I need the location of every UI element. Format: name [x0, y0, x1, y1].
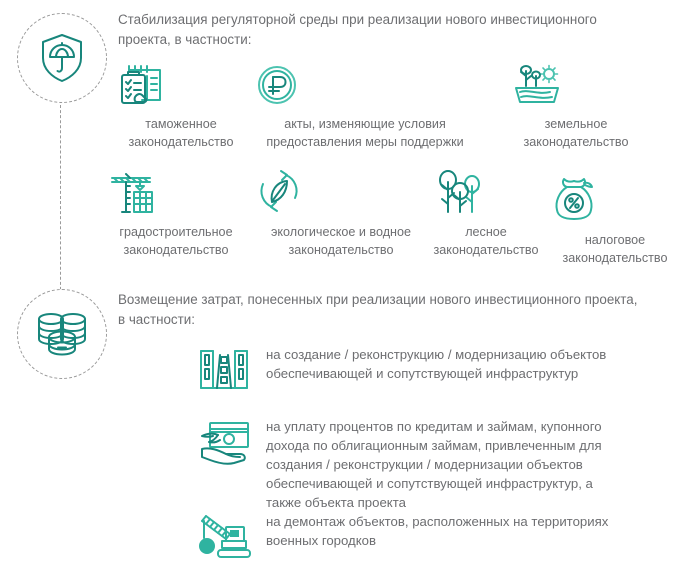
- section-badge-cost-recovery: [17, 289, 107, 379]
- grid-item-urban-planning[interactable]: градостроительное законодательство: [106, 168, 246, 259]
- bullet-text: на демонтаж объектов, расположенных на т…: [266, 510, 608, 550]
- grid-item-tax[interactable]: налоговое законодательство: [551, 176, 679, 267]
- grid-item-ecology-water[interactable]: экологическое и водное законодательство: [256, 168, 426, 259]
- bullet-text: на уплату процентов по кредитам и займам…: [266, 415, 602, 512]
- bullet-text: на создание / реконструкцию / модернизац…: [266, 343, 606, 383]
- bullet-row-loan-interest[interactable]: на уплату процентов по кредитам и займам…: [196, 415, 666, 512]
- wrecking-ball-excavator-icon: [196, 510, 252, 560]
- section-heading-cost-recovery: Возмещение затрат, понесенных при реализ…: [118, 290, 648, 330]
- ruble-coin-icon: [255, 64, 475, 106]
- grid-item-label: лесное законодательство: [434, 225, 539, 257]
- section-connector-line: [60, 100, 61, 300]
- eco-leaf-recycle-icon: [256, 168, 426, 214]
- coin-stacks-icon: [34, 309, 90, 359]
- grid-item-label: экологическое и водное законодательство: [271, 225, 411, 257]
- forest-trees-icon: [432, 168, 540, 214]
- grid-item-label: акты, изменяющие условия предоставления …: [266, 117, 463, 149]
- tax-money-bag-percent-icon: [551, 176, 679, 222]
- shield-umbrella-icon: [35, 31, 89, 85]
- grid-item-label: градостроительное законодательство: [119, 225, 232, 257]
- grid-item-label: земельное законодательство: [524, 117, 629, 149]
- grid-item-land[interactable]: земельное законодательство: [512, 64, 640, 151]
- grid-item-label: налоговое законодательство: [563, 233, 668, 265]
- grid-item-forestry[interactable]: лесное законодательство: [432, 168, 540, 259]
- bridge-infrastructure-icon: [196, 343, 252, 391]
- grid-item-support-measures[interactable]: акты, изменяющие условия предоставления …: [255, 64, 475, 151]
- grid-item-label: таможенное законодательство: [129, 117, 234, 149]
- bullet-row-infrastructure[interactable]: на создание / реконструкцию / модернизац…: [196, 343, 666, 391]
- infographic-canvas: Стабилизация регуляторной среды при реал…: [0, 0, 679, 574]
- land-field-sun-icon: [512, 64, 640, 106]
- hand-banknote-icon: [196, 415, 252, 469]
- grid-item-customs[interactable]: таможенное законодательство: [116, 64, 246, 151]
- section-badge-stabilization: [17, 13, 107, 103]
- construction-crane-icon: [106, 168, 246, 214]
- bullet-row-demolition[interactable]: на демонтаж объектов, расположенных на т…: [196, 510, 666, 560]
- customs-clipboard-icon: [116, 64, 246, 106]
- section-heading-stabilization: Стабилизация регуляторной среды при реал…: [118, 10, 648, 50]
